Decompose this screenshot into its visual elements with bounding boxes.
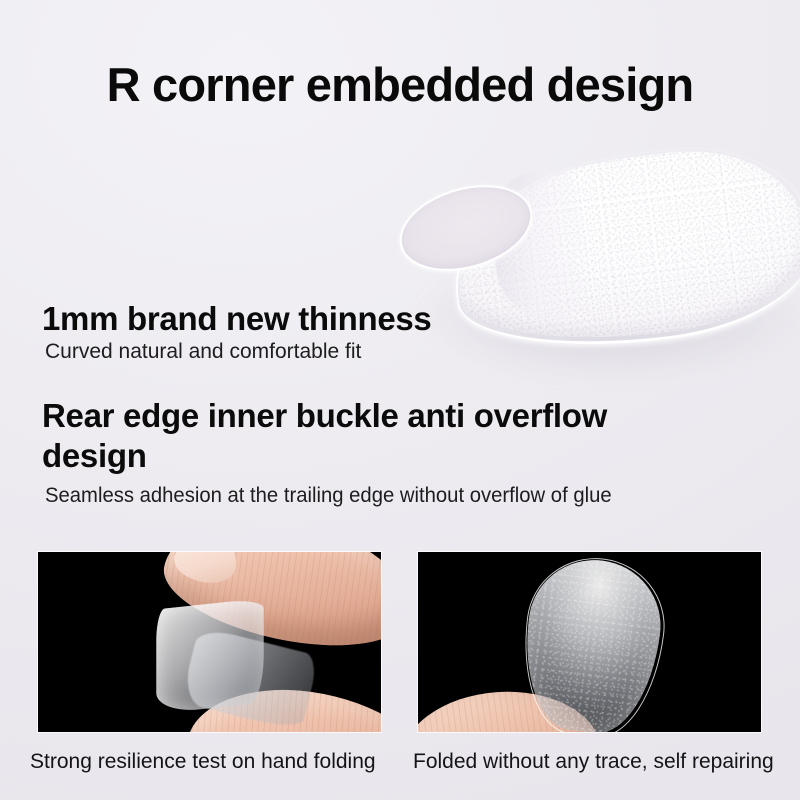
feature-1-subtitle: Curved natural and comfortable fit (45, 338, 361, 366)
film-nail-tip-edge (514, 551, 673, 733)
feature-1-heading: 1mm brand new thinness (42, 300, 431, 338)
page-title: R corner embedded design (0, 56, 800, 114)
feature-2-subtitle: Seamless adhesion at the trailing edge w… (45, 482, 612, 510)
product-feature-poster: R corner embedded design 1mm brand new t… (0, 0, 800, 800)
photo-self-repairing-tip (417, 551, 762, 733)
photo-caption-left: Strong resilience test on hand folding (30, 748, 376, 776)
feature-2-heading: Rear edge inner buckle anti overflow des… (42, 396, 662, 476)
photo-hand-folding-test (37, 551, 382, 733)
photo-caption-right: Folded without any trace, self repairing (413, 748, 774, 776)
hero-product-image (360, 130, 800, 380)
